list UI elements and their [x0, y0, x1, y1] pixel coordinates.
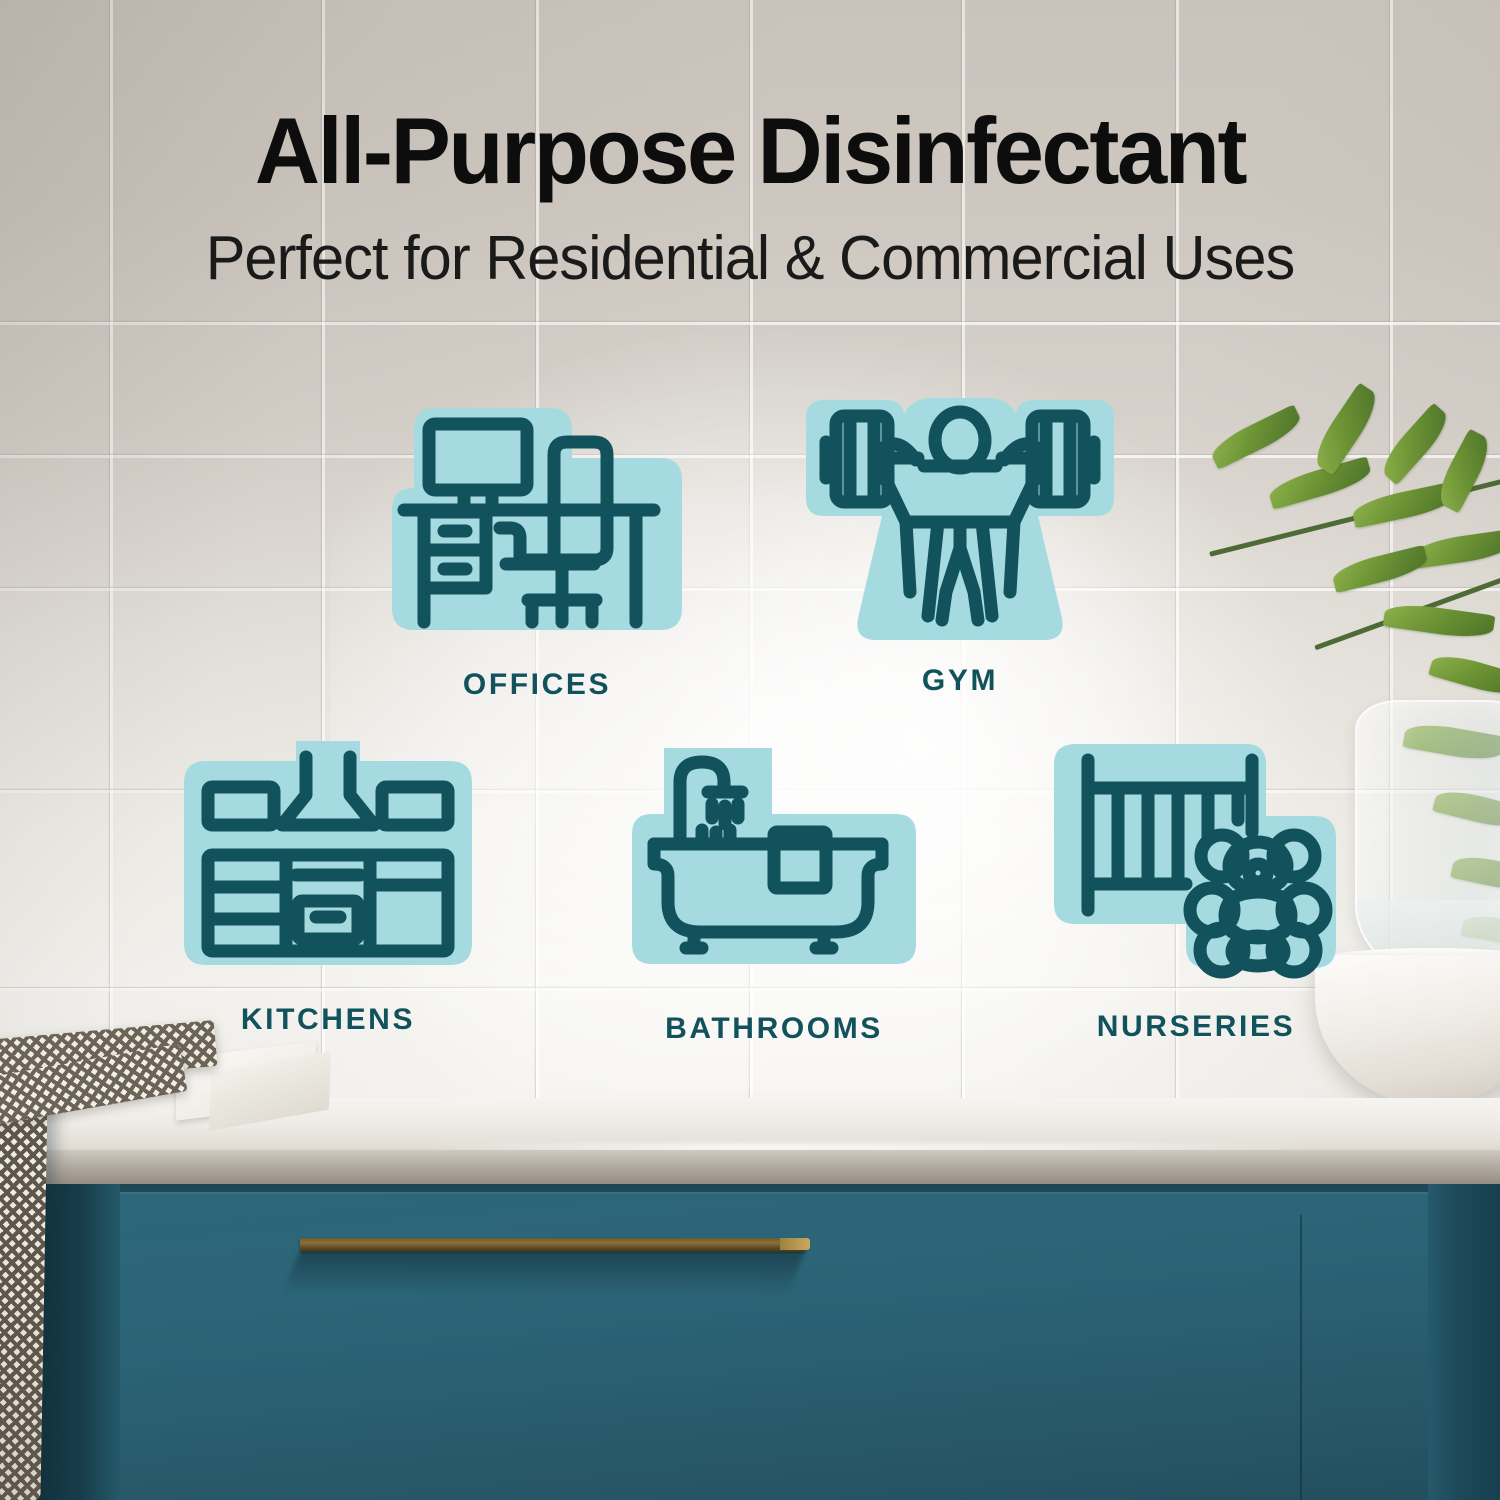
product-feature-graphic: All-Purpose Disinfectant Perfect for Res…: [0, 0, 1500, 1500]
feature-gym: GYM: [790, 392, 1130, 652]
grout-line-horizontal: [0, 455, 1500, 458]
feature-offices: OFFICES: [372, 400, 702, 655]
label-nurseries: NURSERIES: [1036, 1010, 1356, 1044]
brass-bar-handle: [300, 1238, 805, 1252]
handle-tip: [780, 1238, 810, 1250]
cabinet-right-edge: [1428, 1184, 1500, 1500]
grout-line-horizontal: [0, 322, 1500, 325]
towel-drape: [0, 1099, 47, 1500]
kitchen-cabinets-range-hood-icon: [178, 735, 478, 995]
weightlifter-barbell-icon: [790, 392, 1130, 652]
countertop-edge: [0, 1150, 1500, 1188]
feature-kitchens: KITCHENS: [178, 735, 478, 995]
feature-nurseries: NURSERIES: [1046, 738, 1346, 993]
label-kitchens: KITCHENS: [178, 1003, 478, 1037]
clawfoot-bathtub-shower-icon: [624, 742, 924, 992]
feature-bathrooms: BATHROOMS: [624, 742, 924, 992]
handle-shadow: [282, 1251, 805, 1295]
label-gym: GYM: [790, 664, 1130, 698]
label-offices: OFFICES: [372, 668, 702, 702]
label-bathrooms: BATHROOMS: [604, 1012, 944, 1046]
crib-teddy-bear-icon: [1046, 738, 1346, 993]
page-subtitle: Perfect for Residential & Commercial Use…: [30, 228, 1470, 290]
office-desk-chair-icon: [372, 400, 702, 655]
page-title: All-Purpose Disinfectant: [30, 104, 1470, 198]
grout-line-horizontal: [0, 588, 1500, 591]
cabinet-seam: [1300, 1215, 1302, 1500]
